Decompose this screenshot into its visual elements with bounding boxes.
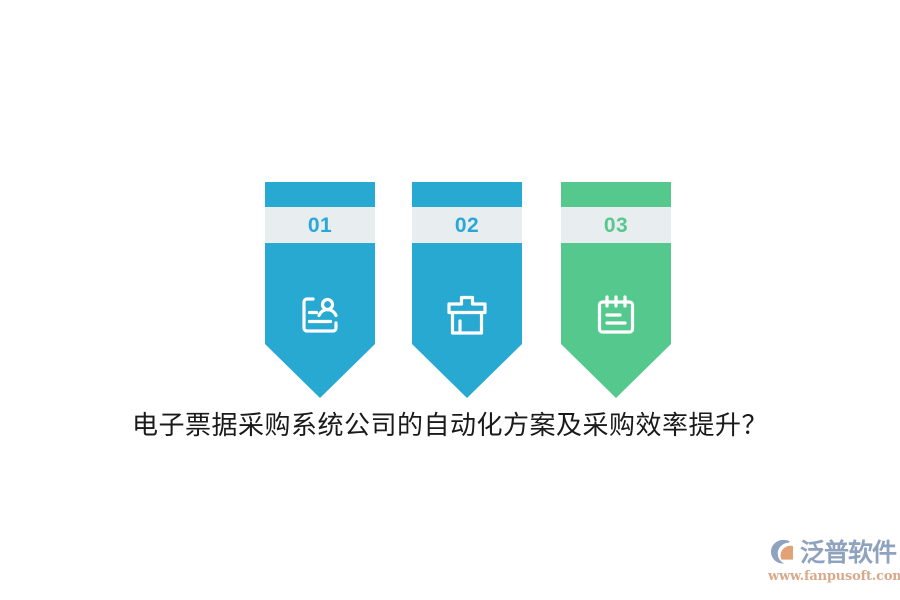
banner-number-band: 01 [265,207,375,243]
banner-number-band: 02 [412,207,522,243]
brand-name: 泛普软件 [800,540,896,565]
banner-group: 01 02 [0,182,900,398]
banner-item-01[interactable]: 01 [265,182,375,398]
banner-body [561,243,671,398]
brand-url: www.fanpusoft.com [768,569,896,584]
banner-cap [412,182,522,207]
banner-number-label: 03 [604,215,628,236]
slide-canvas: 01 02 [0,0,900,600]
banner-number-band: 03 [561,207,671,243]
fanpu-logo-icon [768,537,798,567]
brand-row: 泛普软件 [768,536,896,568]
page-title: 电子票据采购系统公司的自动化方案及采购效率提升？ [0,405,900,442]
banner-item-03[interactable]: 03 [561,182,671,398]
banner-body [265,243,375,398]
brand-watermark: 泛普软件 www.fanpusoft.com [768,536,896,588]
notepad-lines-icon [592,291,640,339]
banner-number-label: 02 [455,215,479,236]
banner-body [412,243,522,398]
storefront-icon [443,291,491,339]
banner-number-label: 01 [308,215,332,236]
banner-item-02[interactable]: 02 [412,182,522,398]
banner-cap [561,182,671,207]
banner-cap [265,182,375,207]
id-card-person-icon [296,291,344,339]
